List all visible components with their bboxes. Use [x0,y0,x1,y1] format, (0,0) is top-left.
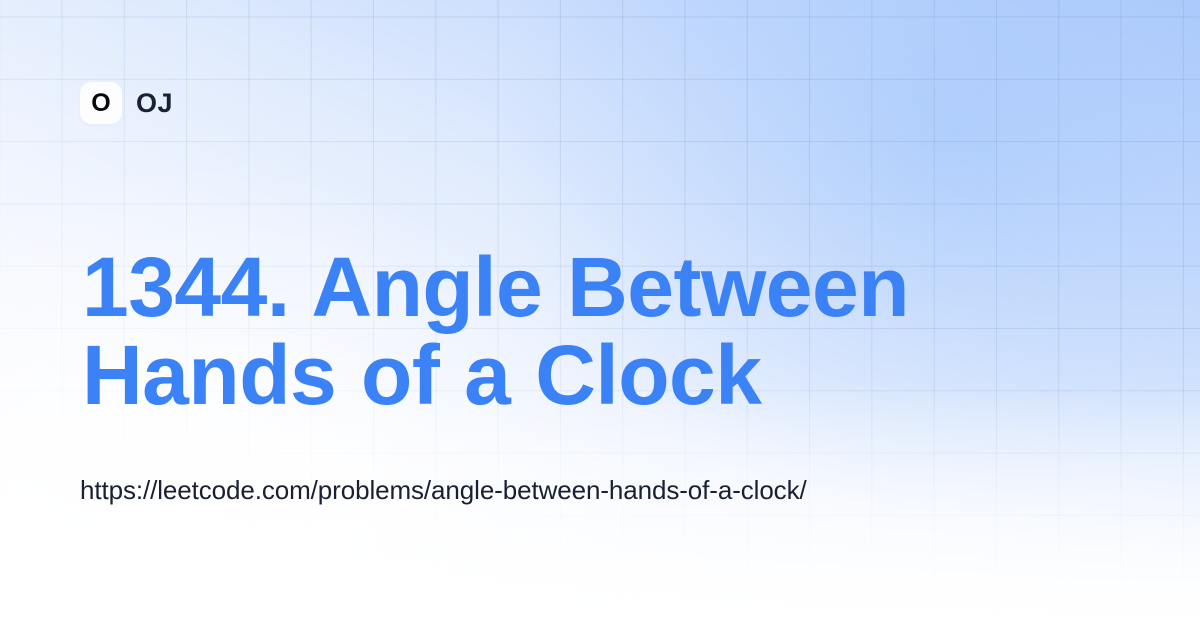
brand-name-label: OJ [136,90,173,117]
brand-logo-letter: O [91,91,110,116]
page-title: 1344. Angle Between Hands of a Clock [82,243,1092,419]
problem-url: https://leetcode.com/problems/angle-betw… [80,471,870,510]
card-content: O OJ 1344. Angle Between Hands of a Cloc… [0,0,1200,630]
og-card: O OJ 1344. Angle Between Hands of a Cloc… [0,0,1200,630]
brand-lockup: O OJ [80,82,173,124]
brand-logo-badge: O [80,82,122,124]
